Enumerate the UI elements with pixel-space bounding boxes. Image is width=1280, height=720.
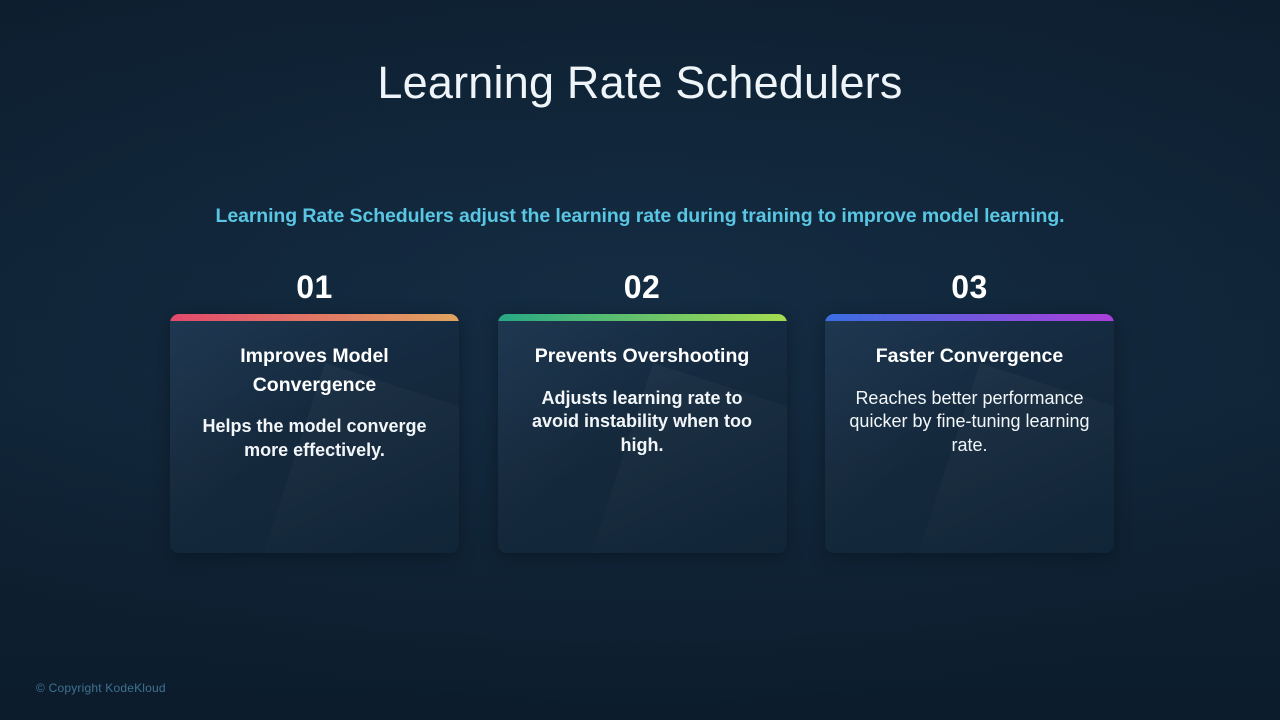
- copyright-footer: © Copyright KodeKloud: [36, 680, 166, 696]
- card-body-03: Faster Convergence Reaches better perfor…: [825, 314, 1114, 553]
- card-text-03: Reaches better performance quicker by fi…: [825, 387, 1114, 458]
- card-body-01: Improves Model Convergence Helps the mod…: [170, 314, 459, 553]
- card-heading-01: Improves Model Convergence: [170, 342, 459, 399]
- card-accent-bar-01: [170, 314, 459, 321]
- slide-title: Learning Rate Schedulers: [0, 55, 1280, 111]
- card-heading-02: Prevents Overshooting: [498, 342, 787, 371]
- card-number-02: 02: [624, 268, 661, 306]
- card-heading-03: Faster Convergence: [825, 342, 1114, 371]
- feature-card-03[interactable]: 03 Faster Convergence Reaches better per…: [825, 268, 1114, 560]
- feature-card-row: 01 Improves Model Convergence Helps the …: [170, 268, 1114, 560]
- feature-card-01[interactable]: 01 Improves Model Convergence Helps the …: [170, 268, 459, 560]
- card-accent-bar-02: [498, 314, 787, 321]
- slide-subtitle: Learning Rate Schedulers adjust the lear…: [0, 203, 1280, 229]
- card-number-03: 03: [951, 268, 988, 306]
- feature-card-02[interactable]: 02 Prevents Overshooting Adjusts learnin…: [498, 268, 787, 560]
- presentation-slide: Learning Rate Schedulers Learning Rate S…: [0, 0, 1280, 720]
- card-number-01: 01: [296, 268, 333, 306]
- card-text-01: Helps the model converge more effectivel…: [170, 415, 459, 462]
- card-body-02: Prevents Overshooting Adjusts learning r…: [498, 314, 787, 553]
- card-text-02: Adjusts learning rate to avoid instabili…: [498, 387, 787, 458]
- card-accent-bar-03: [825, 314, 1114, 321]
